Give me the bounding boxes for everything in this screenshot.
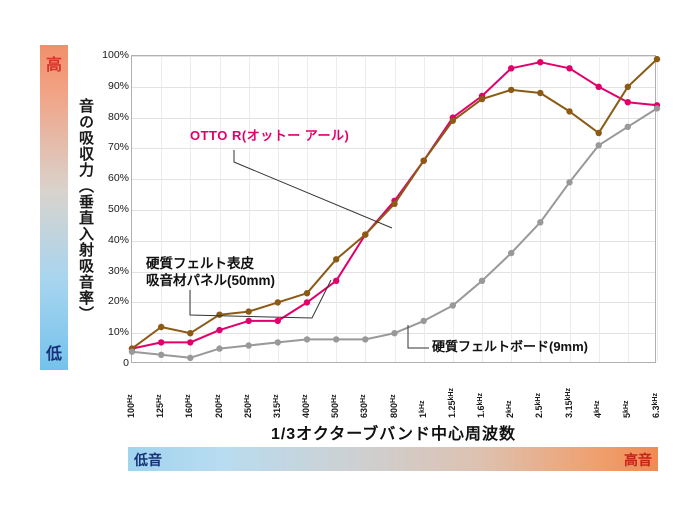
x-axis-tick-labels: 100Hz125Hz160Hz200Hz250Hz315Hz400Hz500Hz… xyxy=(131,366,656,418)
data-point xyxy=(508,87,514,93)
x-axis-tick-label: 125Hz xyxy=(155,372,165,418)
y-axis-tick-label: 80% xyxy=(108,111,129,123)
data-point xyxy=(275,339,281,345)
data-point xyxy=(158,324,164,330)
x-axis-tick-label: 3.15kHz xyxy=(564,372,574,418)
vertical-bar-bottom-label: 低 xyxy=(40,340,68,364)
data-point xyxy=(275,299,281,305)
data-point xyxy=(566,179,572,185)
annotation-felt-board: 硬質フェルトボード(9mm) xyxy=(432,339,588,355)
data-point xyxy=(129,349,135,355)
data-point xyxy=(333,278,339,284)
x-axis-tick-label: 630Hz xyxy=(359,372,369,418)
data-point xyxy=(625,84,631,90)
data-point xyxy=(508,65,514,71)
y-axis-tick-label: 20% xyxy=(108,295,129,307)
data-point xyxy=(362,231,368,237)
data-point xyxy=(596,130,602,136)
data-point xyxy=(304,290,310,296)
data-point xyxy=(333,256,339,262)
data-point xyxy=(187,339,193,345)
x-axis-tick-label: 2kHz xyxy=(505,372,515,418)
x-axis-tick-label: 5kHz xyxy=(622,372,632,418)
data-point xyxy=(391,330,397,336)
data-point xyxy=(187,330,193,336)
annotation-otto-r: OTTO R(オットー アール) xyxy=(190,128,349,144)
data-point xyxy=(216,345,222,351)
x-axis-tick-label: 100Hz xyxy=(126,372,136,418)
vertical-intensity-bar: 高 低 xyxy=(40,45,68,370)
data-point xyxy=(537,219,543,225)
data-point xyxy=(450,302,456,308)
data-point xyxy=(158,352,164,358)
data-point xyxy=(450,118,456,124)
data-point xyxy=(275,318,281,324)
data-point xyxy=(479,278,485,284)
data-point xyxy=(362,336,368,342)
y-axis-tick-labels: 010%20%30%40%50%60%70%80%90%100% xyxy=(95,48,129,370)
data-point xyxy=(566,65,572,71)
data-point xyxy=(333,336,339,342)
data-point xyxy=(246,308,252,314)
vertical-bar-top-label: 高 xyxy=(40,51,68,75)
annotation-felt-panel: 硬質フェルト表皮 吸音材パネル(50mm) xyxy=(146,256,275,290)
data-point xyxy=(508,250,514,256)
data-point xyxy=(596,84,602,90)
x-axis-tick-label: 1kHz xyxy=(418,372,428,418)
data-point xyxy=(304,336,310,342)
data-point xyxy=(304,299,310,305)
data-point xyxy=(625,99,631,105)
data-point xyxy=(566,108,572,114)
data-series xyxy=(129,56,660,352)
data-point xyxy=(421,158,427,164)
x-axis-tick-label: 160Hz xyxy=(184,372,194,418)
x-axis-tick-label: 250Hz xyxy=(243,372,253,418)
data-point xyxy=(158,339,164,345)
data-point xyxy=(421,318,427,324)
horizontal-bar-left-label: 低音 xyxy=(134,450,162,470)
x-axis-tick-label: 1.6kHz xyxy=(476,372,486,418)
data-point xyxy=(479,96,485,102)
x-axis-tick-label: 6.3kHz xyxy=(651,372,661,418)
y-axis-tick-label: 60% xyxy=(108,172,129,184)
x-axis-tick-label: 1.25kHz xyxy=(447,372,457,418)
x-axis-tick-label: 2.5kHz xyxy=(534,372,544,418)
x-axis-title: 1/3オクターブバンド中心周波数 xyxy=(131,420,656,444)
data-point xyxy=(391,201,397,207)
data-point xyxy=(596,142,602,148)
data-point xyxy=(654,105,660,111)
data-point xyxy=(654,56,660,62)
chart-page: 高 低 音の吸収力（垂直入射吸音率） 010%20%30%40%50%60%70… xyxy=(0,0,700,519)
data-point xyxy=(537,59,543,65)
data-point xyxy=(246,342,252,348)
data-point xyxy=(246,318,252,324)
plot-area xyxy=(131,55,656,363)
x-axis-tick-label: 200Hz xyxy=(214,372,224,418)
data-point xyxy=(625,124,631,130)
y-axis-tick-label: 70% xyxy=(108,141,129,153)
horizontal-frequency-bar: 低音 高音 xyxy=(128,447,658,471)
x-axis-tick-label: 315Hz xyxy=(272,372,282,418)
x-axis-tick-label: 500Hz xyxy=(330,372,340,418)
x-axis-tick-label: 800Hz xyxy=(389,372,399,418)
x-axis-tick-label: 400Hz xyxy=(301,372,311,418)
data-point xyxy=(216,327,222,333)
y-axis-tick-label: 0 xyxy=(123,357,129,369)
y-axis-tick-label: 30% xyxy=(108,265,129,277)
horizontal-bar-right-label: 高音 xyxy=(624,450,652,470)
grid-line-vertical xyxy=(657,56,658,362)
y-axis-tick-label: 40% xyxy=(108,234,129,246)
data-point xyxy=(187,355,193,361)
y-axis-tick-label: 90% xyxy=(108,80,129,92)
y-axis-tick-label: 10% xyxy=(108,326,129,338)
data-point xyxy=(216,312,222,318)
y-axis-tick-label: 50% xyxy=(108,203,129,215)
y-axis-tick-label: 100% xyxy=(102,49,129,61)
series-layer xyxy=(132,56,657,364)
x-axis-tick-label: 4kHz xyxy=(593,372,603,418)
data-point xyxy=(537,90,543,96)
